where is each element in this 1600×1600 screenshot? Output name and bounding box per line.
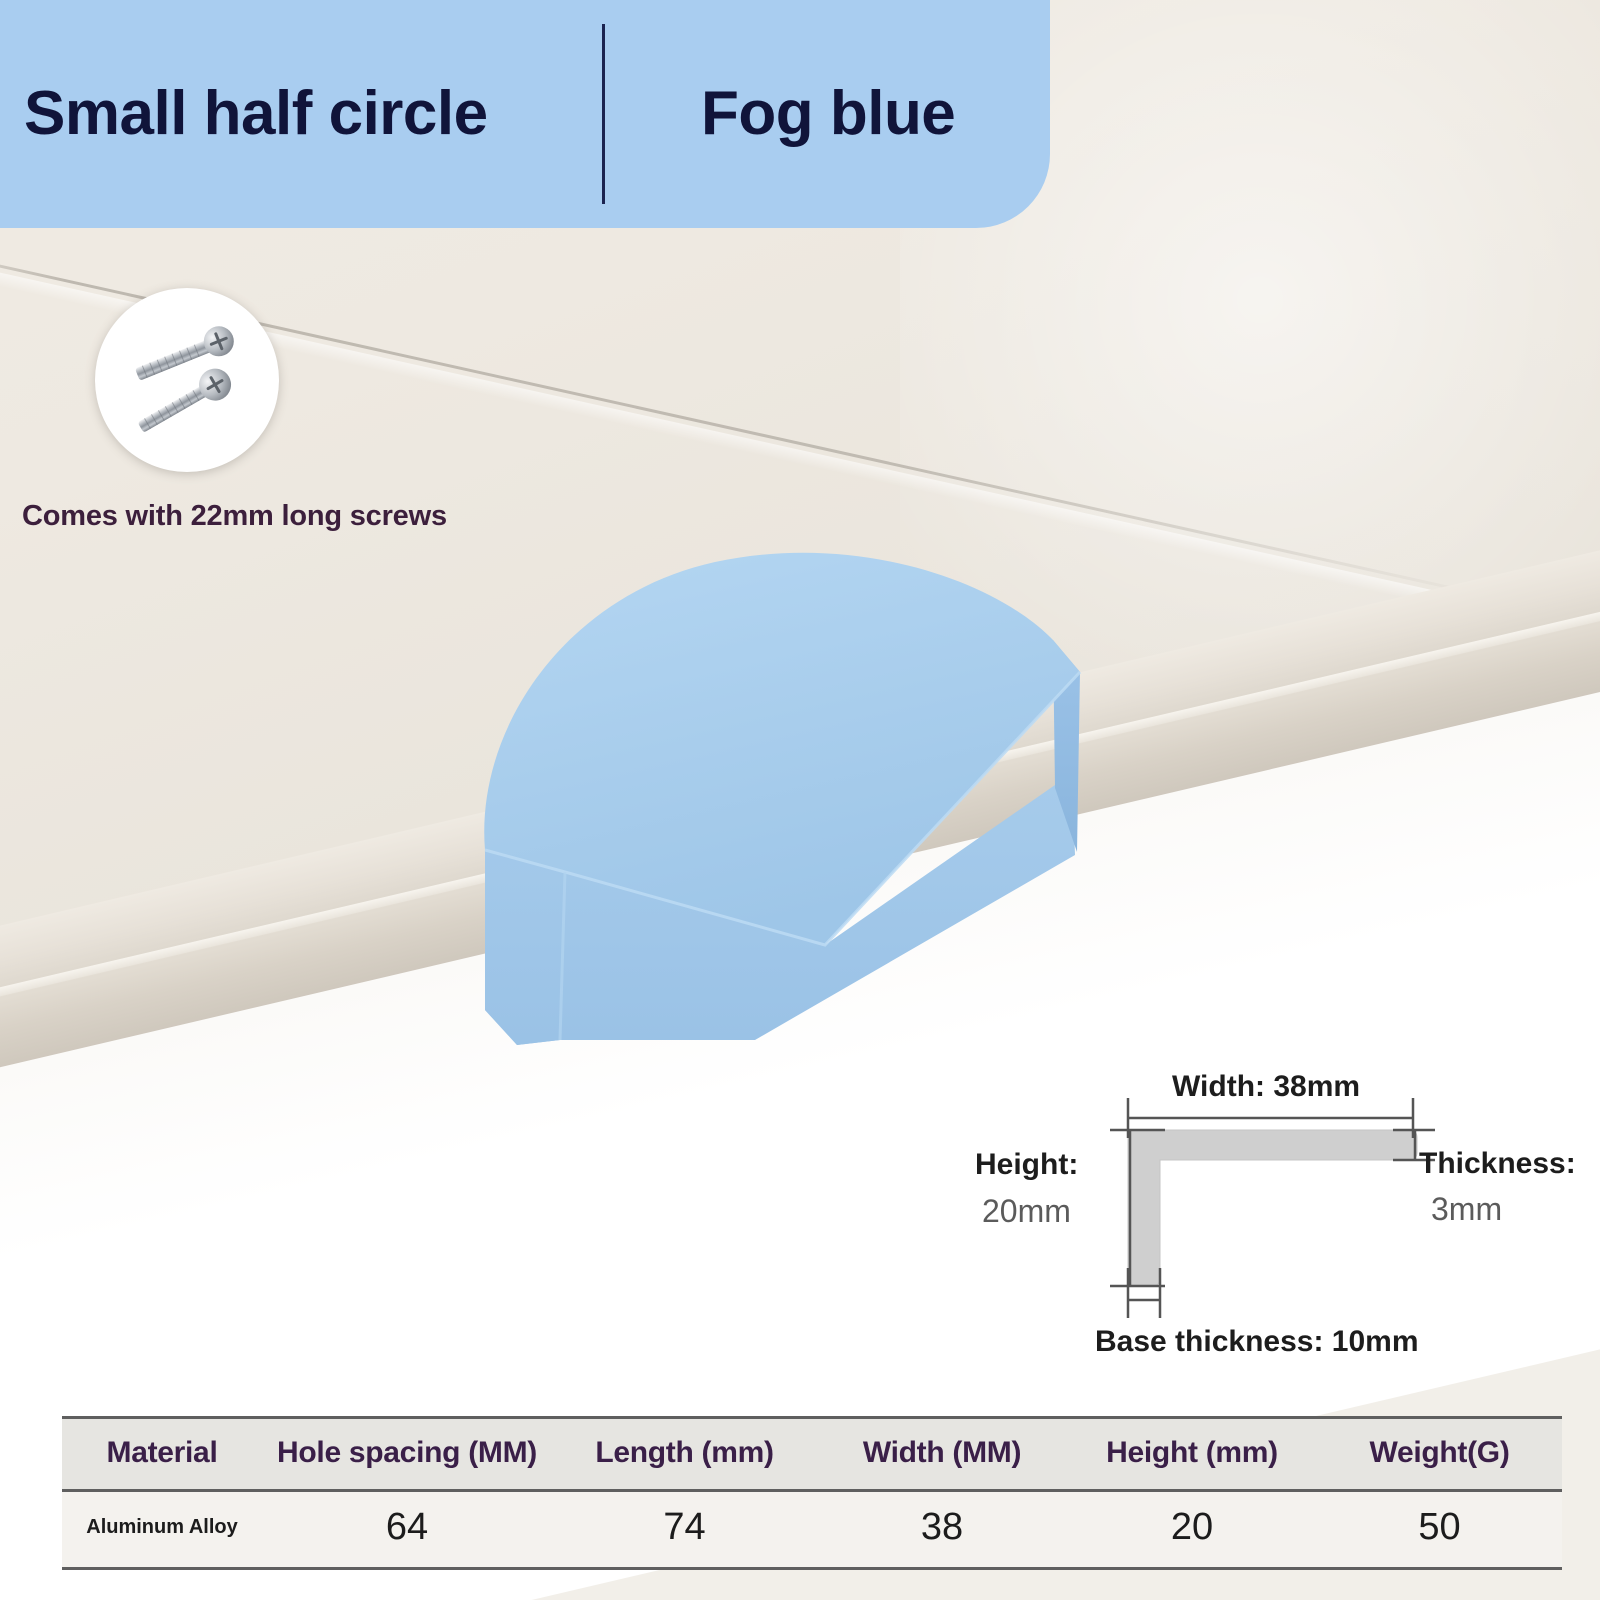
cell-length: 74 [552,1491,817,1569]
column-header-weight: Weight(G) [1317,1418,1562,1491]
base-thickness-label: Base thickness: 10mm [1095,1325,1419,1359]
header-banner: Small half circle Fog blue [0,0,1050,228]
screws-badge [95,288,279,472]
specification-table: Material Hole spacing (MM) Length (mm) W… [62,1416,1562,1570]
banner-divider [602,24,605,204]
column-header-hole-spacing: Hole spacing (MM) [262,1418,552,1491]
screws-caption: Comes with 22mm long screws [22,500,447,533]
color-name-label: Fog blue [701,83,955,145]
table-row: Aluminum Alloy 64 74 38 20 50 [62,1491,1562,1569]
cell-height: 20 [1067,1491,1317,1569]
cell-width: 38 [817,1491,1067,1569]
column-header-length: Length (mm) [552,1418,817,1491]
column-header-material: Material [62,1418,262,1491]
thickness-value: 3mm [1431,1191,1502,1228]
thickness-label: Thickness: [1419,1147,1576,1181]
two-screws-icon [95,288,279,472]
product-detail-image: Small half circle Fog blue [0,0,1600,1600]
table-header-row: Material Hole spacing (MM) Length (mm) W… [62,1418,1562,1491]
page-title: Small half circle [24,83,602,145]
column-header-height: Height (mm) [1067,1418,1317,1491]
width-label: Width: 38mm [1172,1070,1360,1104]
column-header-width: Width (MM) [817,1418,1067,1491]
profile-shape [1128,1130,1417,1286]
product-handle [455,540,1095,1060]
cell-weight: 50 [1317,1491,1562,1569]
cell-material: Aluminum Alloy [62,1491,262,1569]
dimension-diagram: Width: 38mm Height: 20mm Thickness: 3mm … [975,1060,1600,1370]
height-label: Height: [975,1148,1078,1182]
height-value: 20mm [982,1193,1071,1230]
cell-hole-spacing: 64 [262,1491,552,1569]
